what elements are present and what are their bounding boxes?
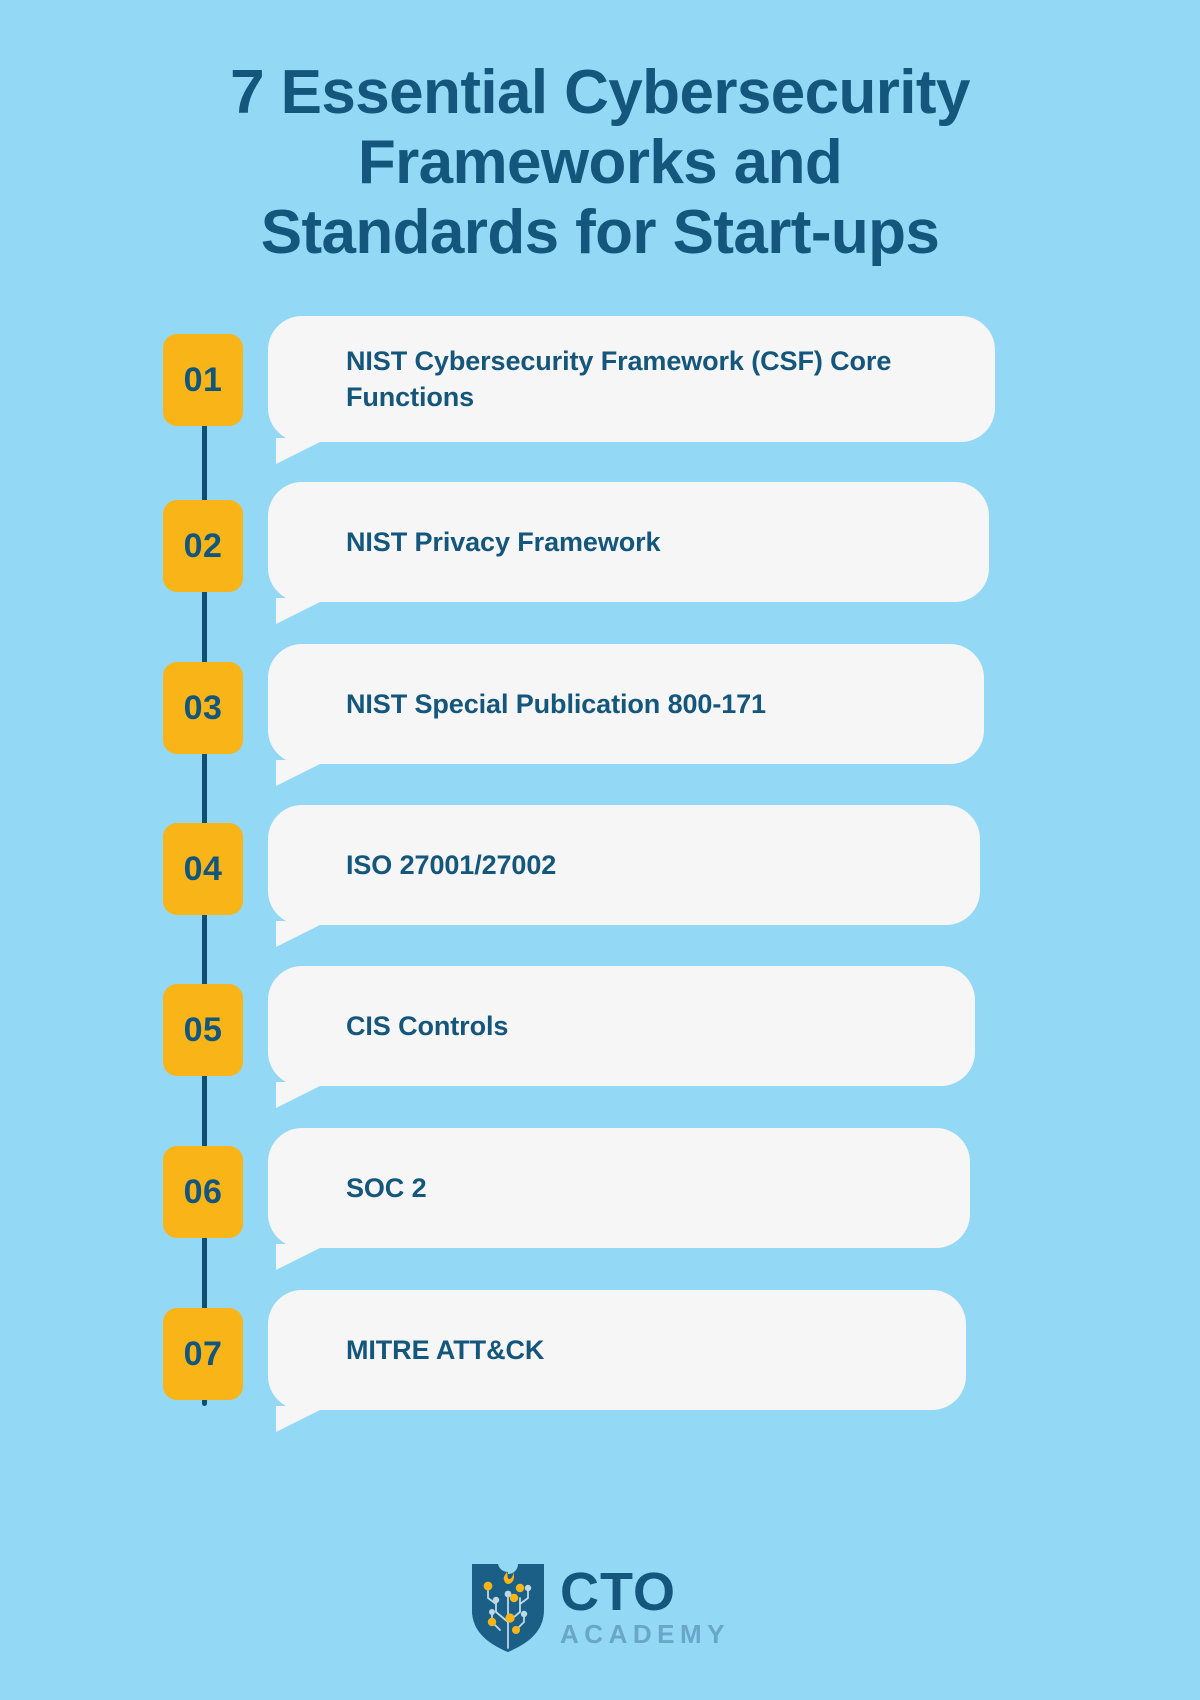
framework-card-03[interactable]: NIST Special Publication 800-171 xyxy=(268,644,984,764)
page-title-line-2: Frameworks and xyxy=(0,128,1200,198)
list-item[interactable]: 07 MITRE ATT&CK xyxy=(0,1290,1200,1453)
framework-card-05[interactable]: CIS Controls xyxy=(268,966,975,1086)
framework-label: CIS Controls xyxy=(268,1008,548,1044)
step-number: 06 xyxy=(184,1173,223,1212)
logo-subtitle: ACADEMY xyxy=(560,1621,730,1647)
step-number: 05 xyxy=(184,1011,223,1050)
framework-label: ISO 27001/27002 xyxy=(268,847,596,883)
framework-label: NIST Privacy Framework xyxy=(268,524,700,560)
cto-academy-logo[interactable]: CTO ACADEMY xyxy=(0,1560,1200,1652)
step-badge-02[interactable]: 02 xyxy=(163,500,243,592)
shield-circuit-flame-icon xyxy=(470,1560,546,1652)
step-badge-04[interactable]: 04 xyxy=(163,823,243,915)
step-badge-03[interactable]: 03 xyxy=(163,662,243,754)
framework-label: MITRE ATT&CK xyxy=(268,1332,584,1368)
framework-card-01[interactable]: NIST Cybersecurity Framework (CSF) Core … xyxy=(268,316,995,442)
framework-label: SOC 2 xyxy=(268,1170,467,1206)
step-badge-01[interactable]: 01 xyxy=(163,334,243,426)
step-number: 03 xyxy=(184,689,223,728)
framework-card-06[interactable]: SOC 2 xyxy=(268,1128,970,1248)
step-number: 07 xyxy=(184,1335,223,1374)
framework-timeline: 01 NIST Cybersecurity Framework (CSF) Co… xyxy=(0,316,1200,1436)
page-title-line-1: 7 Essential Cybersecurity xyxy=(0,58,1200,128)
step-number: 01 xyxy=(184,361,223,400)
step-number: 04 xyxy=(184,850,223,889)
framework-label: NIST Special Publication 800-171 xyxy=(268,686,806,722)
framework-card-02[interactable]: NIST Privacy Framework xyxy=(268,482,989,602)
list-item[interactable]: 04 ISO 27001/27002 xyxy=(0,805,1200,968)
step-badge-06[interactable]: 06 xyxy=(163,1146,243,1238)
framework-card-04[interactable]: ISO 27001/27002 xyxy=(268,805,980,925)
list-item[interactable]: 05 CIS Controls xyxy=(0,966,1200,1129)
page-title: 7 Essential Cybersecurity Frameworks and… xyxy=(0,58,1200,268)
list-item[interactable]: 06 SOC 2 xyxy=(0,1128,1200,1291)
list-item[interactable]: 01 NIST Cybersecurity Framework (CSF) Co… xyxy=(0,316,1200,479)
logo-wordmark: CTO ACADEMY xyxy=(560,1565,730,1647)
page-title-line-3: Standards for Start-ups xyxy=(0,198,1200,268)
list-item[interactable]: 02 NIST Privacy Framework xyxy=(0,482,1200,645)
logo-brand: CTO xyxy=(560,1565,730,1619)
step-number: 02 xyxy=(184,527,223,566)
list-item[interactable]: 03 NIST Special Publication 800-171 xyxy=(0,644,1200,807)
step-badge-07[interactable]: 07 xyxy=(163,1308,243,1400)
step-badge-05[interactable]: 05 xyxy=(163,984,243,1076)
framework-label: NIST Cybersecurity Framework (CSF) Core … xyxy=(268,343,995,415)
framework-card-07[interactable]: MITRE ATT&CK xyxy=(268,1290,966,1410)
